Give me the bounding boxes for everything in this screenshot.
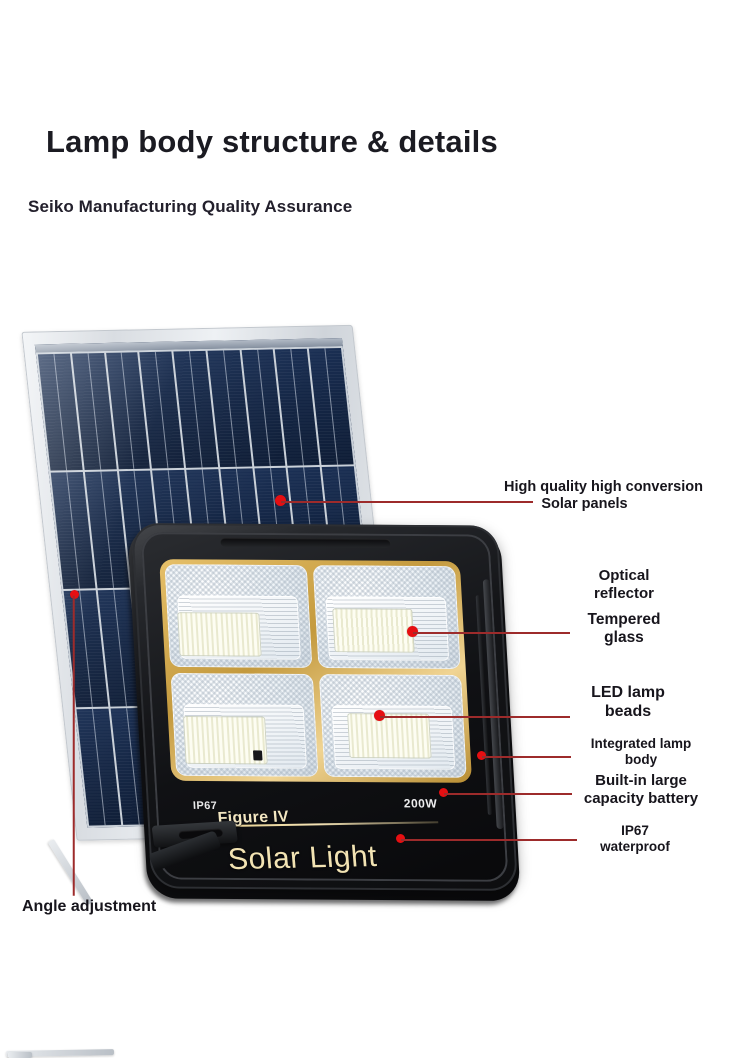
callout-led-lamp-beads: LED lamp beads (580, 684, 676, 722)
leader-line-optical-reflector (413, 632, 570, 634)
callout-optical-reflector-line2: reflector (580, 585, 668, 603)
callout-tempered-glass: Tempered glass (572, 611, 676, 648)
callout-angle-adjustment-line1: Angle adjustment (22, 898, 156, 917)
stand-foot (8, 1052, 32, 1058)
callout-ip67-waterproof-line1: IP67 (580, 823, 690, 839)
callout-angle-adjustment: Angle adjustment (22, 898, 156, 917)
callout-integrated-lamp-body: Integrated lamp body (576, 736, 706, 768)
callout-integrated-lamp-body-line2: body (576, 752, 706, 768)
callout-built-in-battery-line2: capacity battery (566, 790, 716, 808)
leader-line-solar-panels (281, 501, 533, 503)
callout-ip67-waterproof-line2: waterproof (580, 839, 690, 855)
callout-built-in-battery-line1: Built-in large (566, 772, 716, 790)
callout-optical-reflector: Optical reflector (580, 567, 668, 602)
callout-solar-panels-line2: Solar panels (504, 496, 703, 513)
leader-line-angle-adjustment (73, 596, 75, 896)
callout-led-lamp-beads-line2: beads (580, 703, 676, 722)
callout-tempered-glass-line1: Tempered (572, 611, 676, 629)
callout-led-lamp-beads-line1: LED lamp (580, 684, 676, 703)
callout-solar-panels: High quality high conversion Solar panel… (504, 479, 703, 513)
led-quadrant-bottom-right (319, 674, 467, 778)
led-floodlight: IP67 200W Figure IV Solar Light (131, 523, 525, 903)
mounting-bracket (152, 820, 253, 891)
leader-line-integrated-body (444, 793, 572, 795)
page-subtitle: Seiko Manufacturing Quality Assurance (28, 197, 352, 217)
lamp-housing: IP67 200W Figure IV Solar Light (131, 523, 518, 891)
callout-optical-reflector-line1: Optical (580, 567, 668, 585)
face-ip-rating: IP67 (193, 800, 218, 812)
face-wattage: 200W (403, 796, 437, 810)
page-title: Lamp body structure & details (46, 124, 498, 160)
led-quadrant-bottom-left (171, 673, 319, 777)
callout-ip67-waterproof: IP67 waterproof (580, 823, 690, 855)
led-quadrant-top-left (164, 564, 312, 668)
callout-integrated-lamp-body-line1: Integrated lamp (576, 736, 706, 752)
leader-line-led-lamp-beads (482, 756, 571, 758)
product-illustration: IP67 200W Figure IV Solar Light (0, 300, 540, 940)
led-quadrant-top-right (313, 565, 461, 669)
led-array (159, 559, 472, 783)
leader-line-ip67-waterproof (401, 839, 577, 841)
callout-built-in-battery: Built-in large capacity battery (566, 772, 716, 807)
lamp-vent-slot (220, 538, 391, 548)
callout-tempered-glass-line2: glass (572, 629, 676, 647)
leader-line-tempered-glass (380, 716, 570, 718)
callout-solar-panels-line1: High quality high conversion (504, 479, 703, 496)
